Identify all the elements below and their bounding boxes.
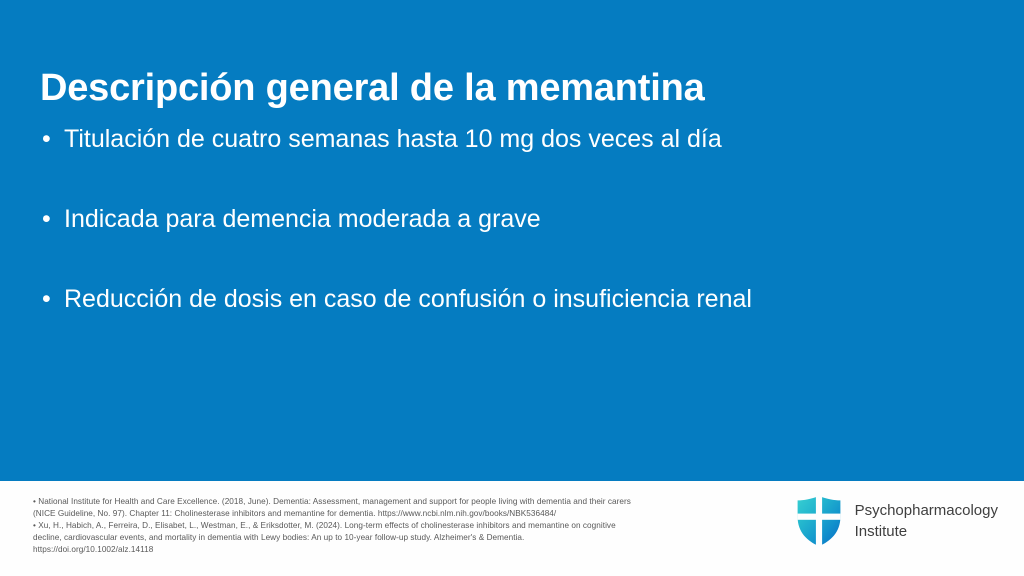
- reference-line: • Xu, H., Habich, A., Ferreira, D., Elis…: [33, 520, 753, 532]
- brand-name-line-1: Psychopharmacology: [855, 500, 998, 521]
- list-item: • Reducción de dosis en caso de confusió…: [40, 282, 970, 362]
- slide-content-area: Descripción general de la memantina • Ti…: [0, 0, 1024, 481]
- list-item: • Indicada para demencia moderada a grav…: [40, 202, 970, 282]
- brand-logo: Psychopharmacology Institute: [796, 495, 998, 547]
- brand-name-line-2: Institute: [855, 521, 998, 542]
- reference-citations: • National Institute for Health and Care…: [33, 496, 753, 556]
- list-item-label: Reducción de dosis en caso de confusión …: [64, 282, 752, 316]
- reference-line: decline, cardiovascular events, and mort…: [33, 532, 753, 544]
- list-item: • Titulación de cuatro semanas hasta 10 …: [40, 122, 970, 202]
- list-item-label: Titulación de cuatro semanas hasta 10 mg…: [64, 122, 722, 156]
- brand-wordmark: Psychopharmacology Institute: [855, 500, 998, 542]
- reference-line: (NICE Guideline, No. 97). Chapter 11: Ch…: [33, 508, 753, 520]
- bullet-point-icon: •: [42, 122, 56, 156]
- presentation-slide: Descripción general de la memantina • Ti…: [0, 0, 1024, 576]
- slide-footer: • National Institute for Health and Care…: [0, 481, 1024, 576]
- bullet-list: • Titulación de cuatro semanas hasta 10 …: [40, 122, 970, 362]
- page-title: Descripción general de la memantina: [40, 65, 960, 111]
- bullet-point-icon: •: [42, 202, 56, 236]
- reference-line: • National Institute for Health and Care…: [33, 496, 753, 508]
- shield-cross-icon: [796, 495, 842, 547]
- reference-line: https://doi.org/10.1002/alz.14118: [33, 544, 753, 556]
- bullet-point-icon: •: [42, 282, 56, 316]
- list-item-label: Indicada para demencia moderada a grave: [64, 202, 541, 236]
